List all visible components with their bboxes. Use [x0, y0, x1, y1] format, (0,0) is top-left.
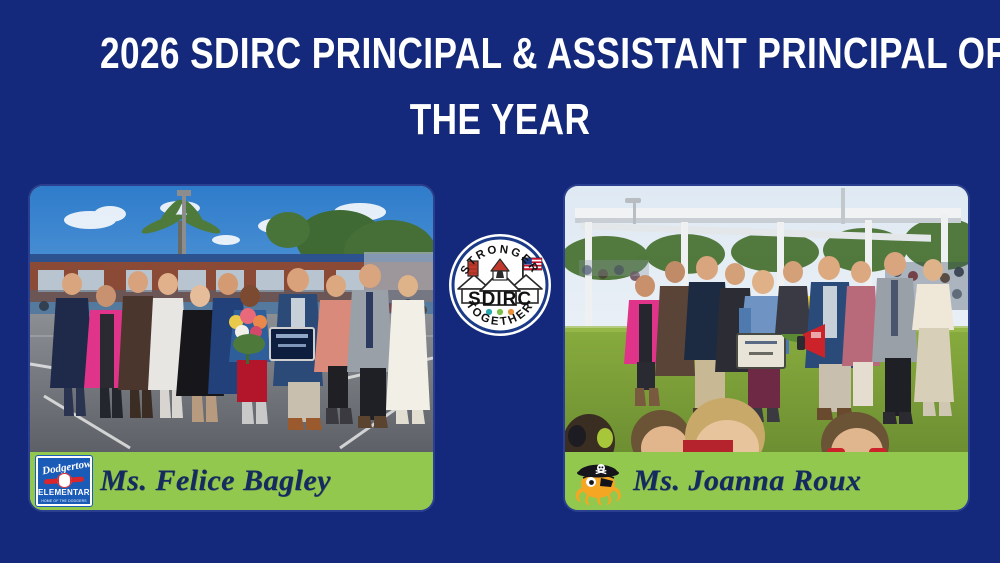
award-card-assistant-principal[interactable]: Ms. Joanna Roux: [565, 186, 968, 510]
dodgertown-block-text: ELEMENTARY: [38, 488, 90, 497]
photo-principal-group: [30, 186, 433, 452]
dodgertown-sub-text: HOME OF THE DODGERS: [38, 499, 90, 503]
baseball-icon: [57, 473, 72, 488]
page-title: 2026 SDIRC PRINCIPAL & ASSISTANT PRINCIP…: [0, 26, 1000, 148]
pirate-octopus-mascot: [571, 456, 625, 506]
dodgertown-elementary-logo: Dodgertown ELEMENTARY HOME OF THE DODGER…: [36, 456, 92, 506]
honoree-name-right: Ms. Joanna Roux: [633, 464, 861, 498]
award-card-principal[interactable]: Dodgertown ELEMENTARY HOME OF THE DODGER…: [30, 186, 433, 510]
photo-assistant-principal-group: [565, 186, 968, 452]
name-banner-left: Dodgertown ELEMENTARY HOME OF THE DODGER…: [30, 452, 433, 510]
sdirc-stronger-together-logo: SDIRC STRONGER TOGETHER: [448, 233, 552, 337]
honoree-name-left: Ms. Felice Bagley: [100, 464, 331, 498]
title-line-2: THE YEAR: [100, 92, 900, 148]
slide-canvas: 2026 SDIRC PRINCIPAL & ASSISTANT PRINCIP…: [0, 0, 1000, 563]
title-line-1: 2026 SDIRC PRINCIPAL & ASSISTANT PRINCIP…: [100, 26, 900, 82]
name-banner-right: Ms. Joanna Roux: [565, 452, 968, 510]
